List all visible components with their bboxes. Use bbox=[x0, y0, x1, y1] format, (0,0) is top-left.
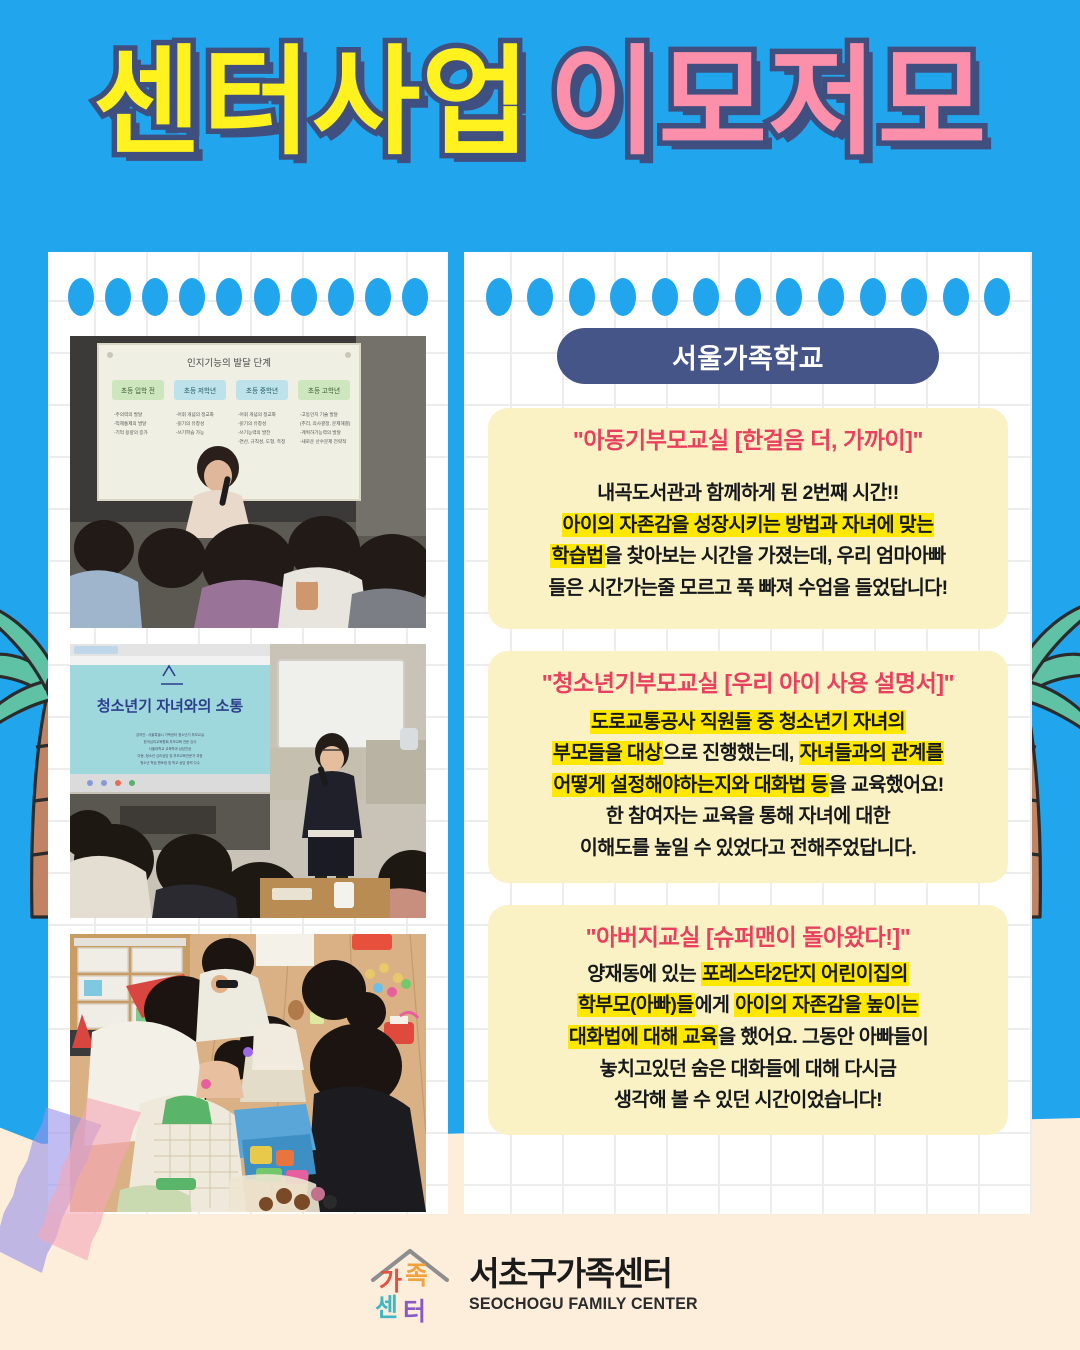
body-text: 양재동에 있는 bbox=[587, 963, 701, 985]
program-card-body-line: 대화법에 대해 교육을 했어요. 그동안 아빠들이 bbox=[498, 1022, 998, 1054]
highlighted-text: 아이의 자존감을 성장시키는 방법과 자녀에 맞는 bbox=[562, 513, 935, 537]
highlighted-text: 부모들을 대상 bbox=[552, 741, 663, 765]
svg-text:초등 입학 전: 초등 입학 전 bbox=[121, 386, 155, 395]
svg-text:초등 중학년: 초등 중학년 bbox=[246, 386, 278, 395]
binder-dot-icon bbox=[291, 278, 317, 316]
svg-text:-새로운 산수문제 전략적: -새로운 산수문제 전략적 bbox=[300, 438, 346, 445]
svg-text:-연산, 규칙성, 도형, 측정: -연산, 규칙성, 도형, 측정 bbox=[238, 438, 285, 445]
program-card-body-line: 이해도를 높일 수 있었다고 전해주었답니다. bbox=[498, 833, 998, 865]
svg-text:서울대학교 교육학과 상담전공: 서울대학교 교육학과 상담전공 bbox=[149, 746, 191, 751]
body-text: 생각해 볼 수 있던 시간이었습니다! bbox=[614, 1089, 882, 1111]
program-card-title: "아버지교실 [슈퍼맨이 돌아왔다!]" bbox=[498, 921, 998, 953]
body-text: 에게 bbox=[695, 994, 735, 1016]
svg-text:-읽기의 유창성: -읽기의 유창성 bbox=[238, 420, 266, 427]
svg-text:-억제통제의 발달: -억제통제의 발달 bbox=[114, 420, 147, 427]
footer-logo-text: 서초구가족센터 SEOCHOGU FAMILY CENTER bbox=[469, 1256, 712, 1315]
photo-teen-communication-lecture: 청소년기 자녀와의 소통 강의안 : 서울특별시 가족센터 청소년기 부모교실 … bbox=[70, 644, 426, 918]
svg-text:족: 족 bbox=[405, 1262, 428, 1290]
body-text: 을 찾아보는 시간을 가졌는데, 우리 엄마아빠 bbox=[605, 545, 946, 567]
program-card-body-line: 학부모(아빠)들에게 아이의 자존감을 높이는 bbox=[498, 990, 998, 1022]
svg-text:-어휘 개념의 정교화: -어휘 개념의 정교화 bbox=[176, 411, 215, 418]
svg-text:강의안 : 서울특별시 가족센터 청소년기 부모교실: 강의안 : 서울특별시 가족센터 청소년기 부모교실 bbox=[136, 732, 204, 737]
photo-cognitive-development-lecture: 인지기능의 발달 단계 초등 입학 전 초등 저학년 초등 중학년 초등 고학년… bbox=[70, 336, 426, 628]
program-card-body-line: 내곡도서관과 함께하게 된 2번째 시간!! bbox=[498, 478, 998, 510]
program-card-body-line: 학습법을 찾아보는 시간을 가졌는데, 우리 엄마아빠 bbox=[498, 541, 998, 573]
footer-logo-english: SEOCHOGU FAMILY CENTER bbox=[469, 1294, 698, 1314]
highlighted-text: 자녀들과의 관계를 bbox=[799, 741, 945, 765]
program-card-body-line: 놓치고있던 숨은 대화들에 대해 다시금 bbox=[498, 1054, 998, 1086]
program-card-body-line: 도로교통공사 직원들 중 청소년기 자녀의 bbox=[498, 707, 998, 739]
svg-text:-고등인지 기술 발달: -고등인지 기술 발달 bbox=[300, 411, 339, 418]
svg-text:-계획하기능력의 발달: -계획하기능력의 발달 bbox=[300, 429, 342, 436]
program-card-body-line: 한 참여자는 교육을 통해 자녀에 대한 bbox=[498, 801, 998, 833]
svg-text:가: 가 bbox=[379, 1268, 402, 1296]
family-center-house-logo-icon: 가 족 센 터 bbox=[367, 1246, 453, 1324]
program-card-body: 도로교통공사 직원들 중 청소년기 자녀의부모들을 대상으로 진행했는데, 자녀… bbox=[498, 707, 998, 865]
section-badge: 서울가족학교 bbox=[557, 328, 939, 384]
svg-text:초등 고학년: 초등 고학년 bbox=[308, 386, 340, 395]
svg-text:인지기능의 발달 단계: 인지기능의 발달 단계 bbox=[187, 357, 271, 369]
binder-dot-row-left bbox=[48, 278, 448, 316]
body-text: 들은 시간가는줄 모르고 푹 빠져 수업을 들었답니다! bbox=[549, 577, 948, 599]
highlighted-text: 아이의 자존감을 높이는 bbox=[734, 993, 919, 1017]
svg-text:(추리, 의사결정, 문제해결): (추리, 의사결정, 문제해결) bbox=[300, 420, 351, 427]
title-line: 센터사업이모저모 bbox=[93, 34, 988, 173]
program-card-body-line: 아이의 자존감을 성장시키는 방법과 자녀에 맞는 bbox=[498, 510, 998, 542]
program-card: "아버지교실 [슈퍼맨이 돌아왔다!]" 양재동에 있는 포레스타2단지 어린이… bbox=[488, 905, 1008, 1135]
program-card-body-line: 생각해 볼 수 있던 시간이었습니다! bbox=[498, 1085, 998, 1117]
photo-fathers-and-children-play bbox=[70, 934, 426, 1212]
body-text: 을 교육했어요! bbox=[829, 774, 944, 796]
body-text: 내곡도서관과 함께하게 된 2번째 시간!! bbox=[597, 482, 898, 504]
body-text: 이해도를 높일 수 있었다고 전해주었답니다. bbox=[580, 837, 916, 859]
svg-text:한국심리교육협회 부모교육 전문 강사: 한국심리교육협회 부모교육 전문 강사 bbox=[144, 739, 198, 744]
program-card-title: "청소년기부모교실 [우리 아이 사용 설명서]" bbox=[498, 667, 998, 699]
binder-dot-icon bbox=[68, 278, 94, 316]
highlighted-text: 포레스타2단지 어린이집의 bbox=[701, 962, 909, 986]
binder-dot-icon bbox=[328, 278, 354, 316]
program-card-body-line: 들은 시간가는줄 모르고 푹 빠져 수업을 들었답니다! bbox=[498, 573, 998, 605]
highlighted-text: 도로교통공사 직원들 중 청소년기 자녀의 bbox=[590, 710, 906, 734]
binder-dot-icon bbox=[365, 278, 391, 316]
svg-text:센: 센 bbox=[375, 1294, 398, 1322]
body-text: 을 했어요. 그동안 아빠들이 bbox=[718, 1026, 928, 1048]
program-card-title: "아동기부모교실 [한걸음 더, 가까이]" bbox=[498, 424, 998, 456]
program-card-body-line: 부모들을 대상으로 진행했는데, 자녀들과의 관계를 bbox=[498, 738, 998, 770]
svg-text:-읽기의 유창성: -읽기의 유창성 bbox=[176, 420, 204, 427]
svg-text:-주의력의 발달: -주의력의 발달 bbox=[114, 411, 143, 418]
body-text: 놓치고있던 숨은 대화들에 대해 다시금 bbox=[600, 1058, 897, 1080]
program-card-body: 양재동에 있는 포레스타2단지 어린이집의학부모(아빠)들에게 아이의 자존감을… bbox=[498, 959, 998, 1117]
body-text: 한 참여자는 교육을 통해 자녀에 대한 bbox=[606, 805, 890, 827]
binder-dot-icon bbox=[105, 278, 131, 316]
title-part-1: 센터사업 bbox=[93, 37, 531, 169]
program-card-body-line: 양재동에 있는 포레스타2단지 어린이집의 bbox=[498, 959, 998, 991]
highlighted-text: 어떻게 설정해야하는지와 대화법 등 bbox=[552, 773, 829, 797]
svg-text:-기억 용량의 증가: -기억 용량의 증가 bbox=[114, 429, 148, 436]
svg-text:청소년 학습 멘토링 및 학교 상담 경력 다수: 청소년 학습 멘토링 및 학교 상담 경력 다수 bbox=[140, 760, 200, 765]
svg-text:-어휘 개념의 정교화: -어휘 개념의 정교화 bbox=[238, 411, 277, 418]
svg-text:-쓰기능력의 발전: -쓰기능력의 발전 bbox=[238, 429, 270, 436]
body-text: 으로 진행했는데, bbox=[663, 742, 799, 764]
photo-column-paper: 인지기능의 발달 단계 초등 입학 전 초등 저학년 초등 중학년 초등 고학년… bbox=[48, 252, 448, 1214]
svg-text:아동, 청소년 심리상담 및 부모교육전문가 과정: 아동, 청소년 심리상담 및 부모교육전문가 과정 bbox=[138, 753, 203, 758]
program-card: "청소년기부모교실 [우리 아이 사용 설명서]" 도로교통공사 직원들 중 청… bbox=[488, 651, 1008, 883]
highlighted-text: 학습법 bbox=[550, 544, 604, 568]
binder-dot-icon bbox=[402, 278, 428, 316]
binder-dot-icon bbox=[142, 278, 168, 316]
poster-title: 센터사업이모저모 bbox=[0, 34, 1080, 173]
svg-text:초등 저학년: 초등 저학년 bbox=[184, 386, 216, 395]
program-card-body: 내곡도서관과 함께하게 된 2번째 시간!!아이의 자존감을 성장시키는 방법과… bbox=[498, 478, 998, 604]
program-card: "아동기부모교실 [한걸음 더, 가까이]" 내곡도서관과 함께하게 된 2번째… bbox=[488, 408, 1008, 629]
binder-dot-icon bbox=[179, 278, 205, 316]
footer-logo: 가 족 센 터 서초구가족센터 SEOCHOGU FAMILY CENTER bbox=[0, 1246, 1080, 1324]
binder-dot-icon bbox=[216, 278, 242, 316]
highlighted-text: 학부모(아빠)들 bbox=[577, 993, 695, 1017]
svg-text:터: 터 bbox=[403, 1298, 426, 1324]
text-column-paper: 서울가족학교 "아동기부모교실 [한걸음 더, 가까이]" 내곡도서관과 함께하… bbox=[464, 252, 1032, 1214]
binder-dot-icon bbox=[254, 278, 280, 316]
svg-text:-쓰기학습 가능: -쓰기학습 가능 bbox=[176, 429, 204, 436]
program-card-body-line: 어떻게 설정해야하는지와 대화법 등을 교육했어요! bbox=[498, 770, 998, 802]
highlighted-text: 대화법에 대해 교육 bbox=[568, 1025, 718, 1049]
title-part-2: 이모저모 bbox=[549, 37, 987, 169]
footer-logo-korean: 서초구가족센터 bbox=[469, 1256, 712, 1293]
svg-text:청소년기 자녀와의 소통: 청소년기 자녀와의 소통 bbox=[97, 697, 244, 715]
